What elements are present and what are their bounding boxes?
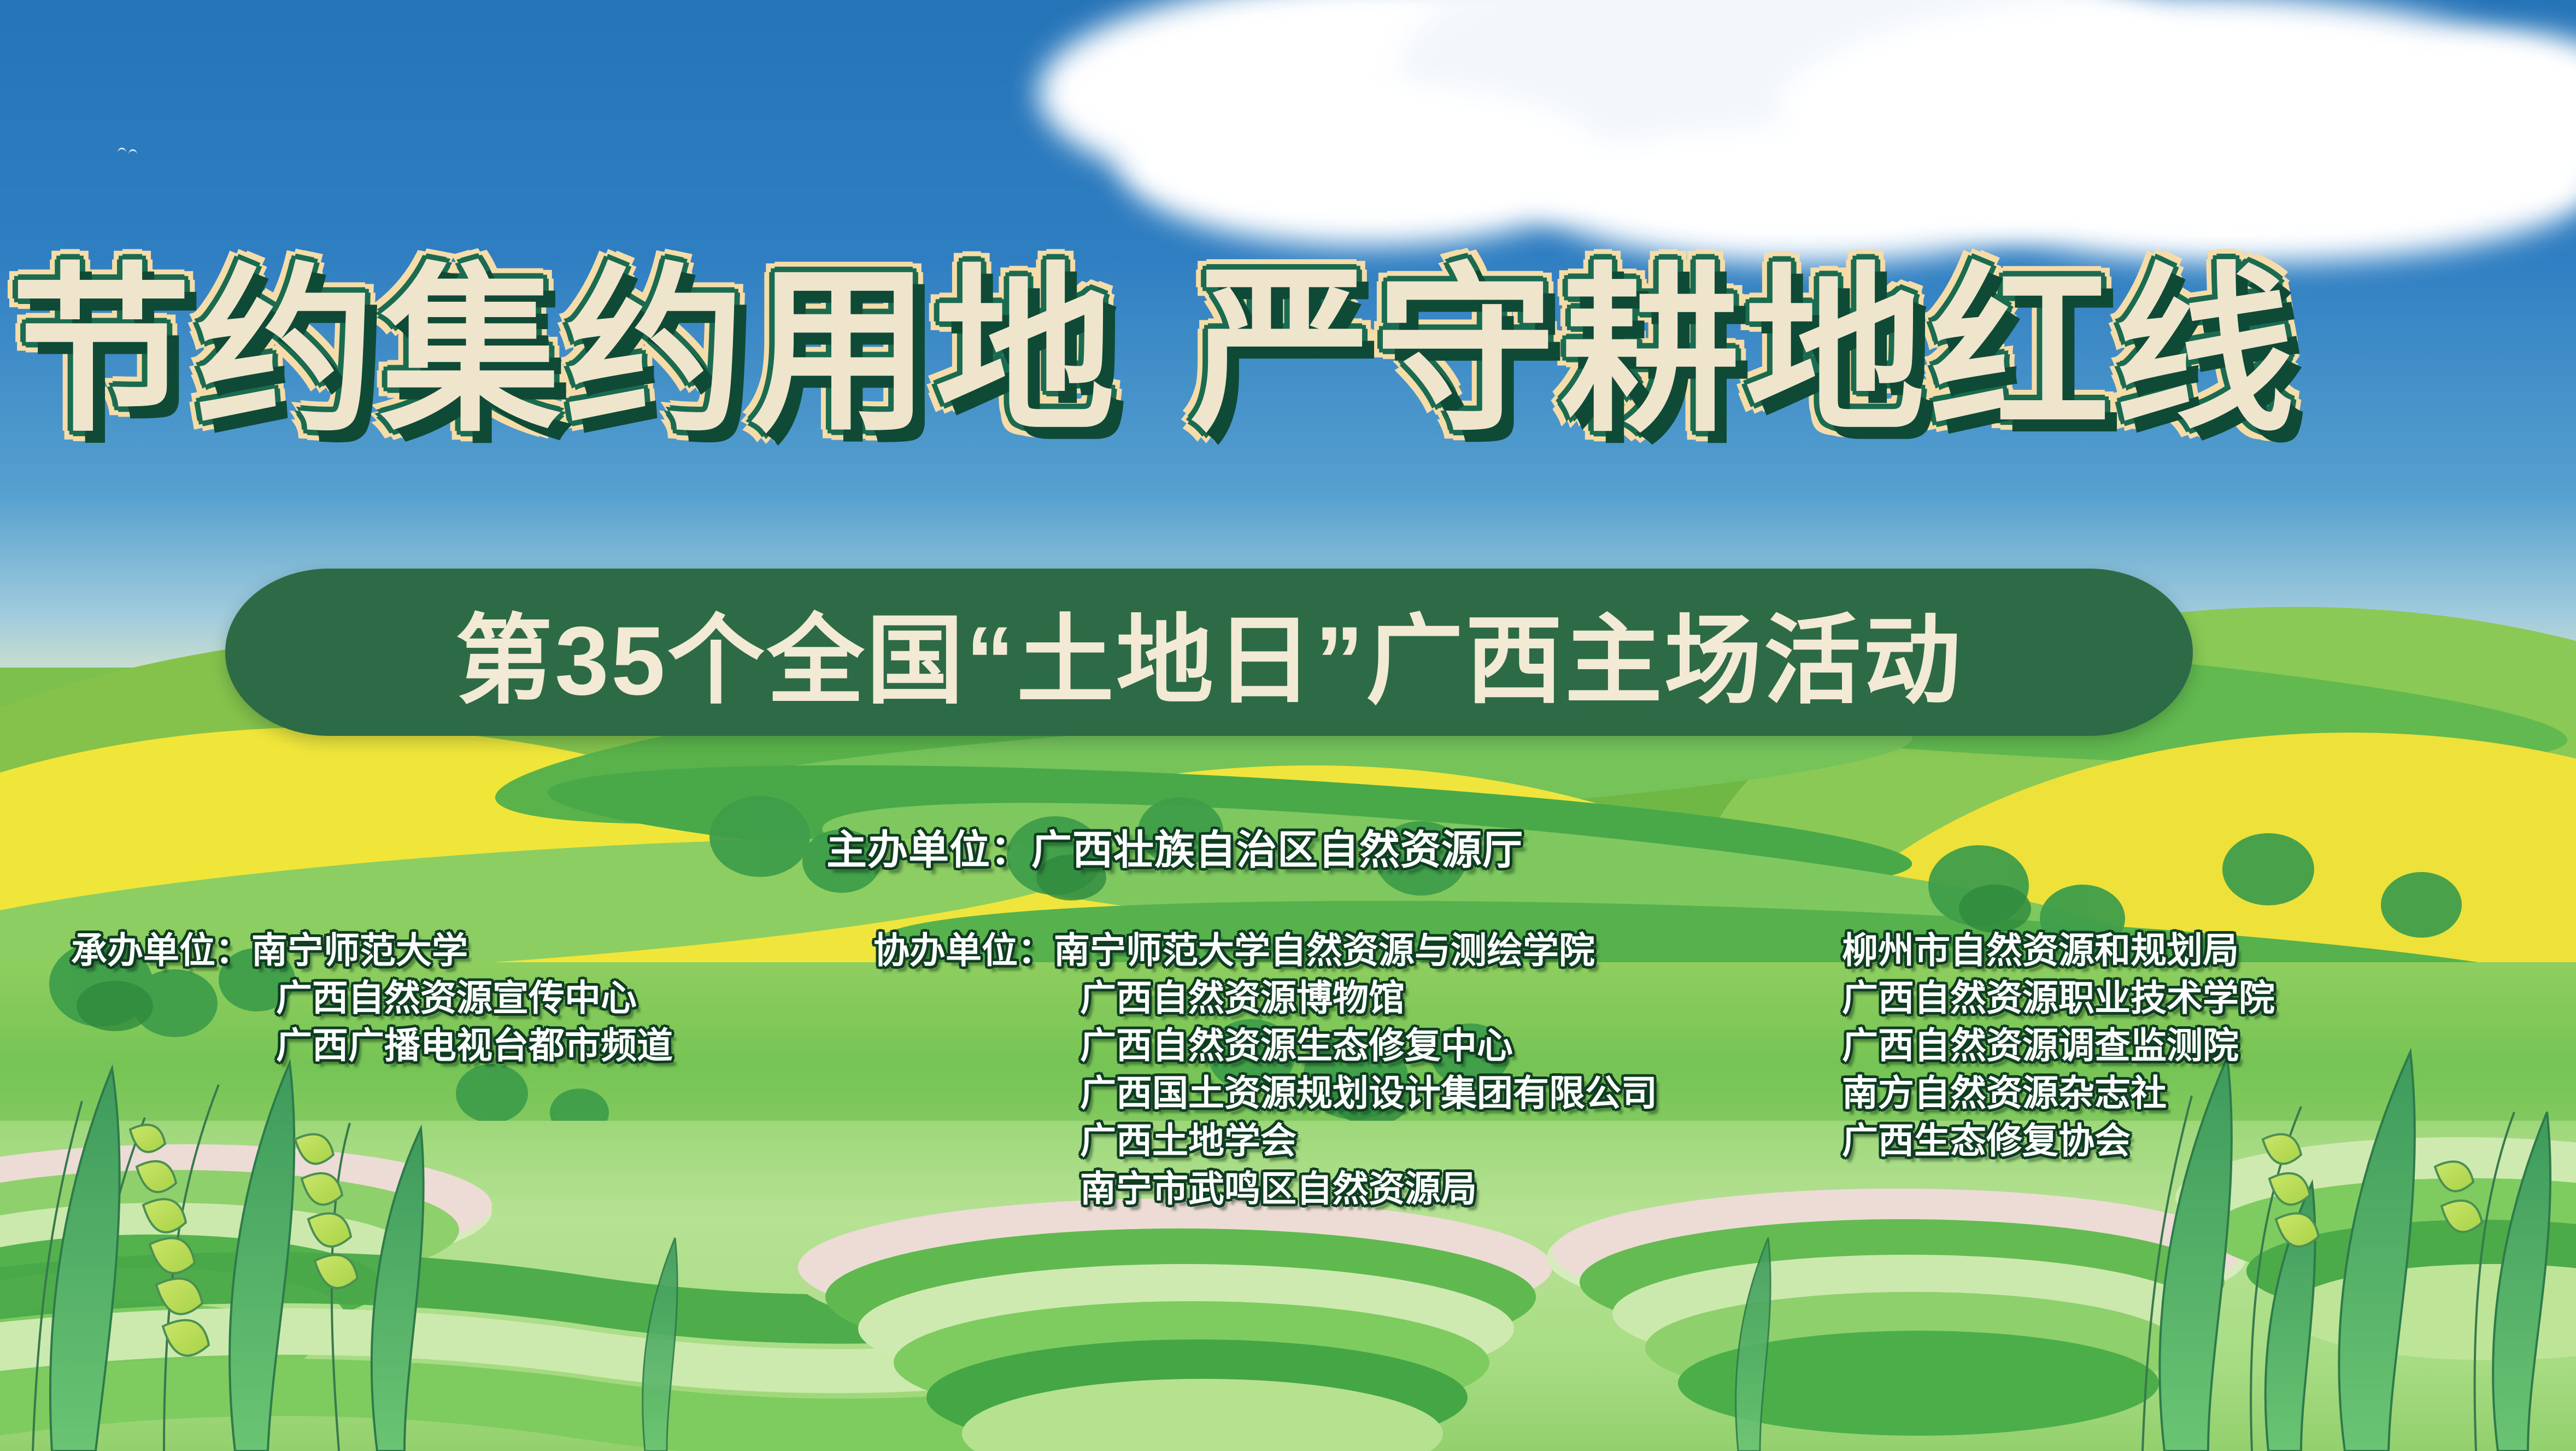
headline-part-1: 节约集约用地 <box>11 250 1119 452</box>
birds-icon <box>118 148 139 155</box>
organizer-line: 承办单位：南宁师范大学 <box>71 927 673 974</box>
headline-part-2: 严守耕地红线 <box>1190 250 2299 452</box>
poster-canvas: 节约集约用地严守耕地红线 第35个全国“土地日”广西主场活动 主办单位：广西壮族… <box>0 0 2576 1451</box>
cloud-shape <box>1530 126 2077 262</box>
co-organizer-line: 广西自然资源调查监测院 <box>1842 1022 2275 1069</box>
page-title: 节约集约用地严守耕地红线 <box>11 261 2569 442</box>
co-organizer-line: 南宁市武鸣区自然资源局 <box>873 1165 1657 1213</box>
co-organizer-line: 广西自然资源职业技术学院 <box>1842 974 2275 1022</box>
co-organizer-line: 广西土地学会 <box>873 1117 1657 1165</box>
co-organizers-right-column: 柳州市自然资源和规划局 广西自然资源职业技术学院 广西自然资源调查监测院 南方自… <box>1842 927 2275 1165</box>
rice-blade <box>50 1063 424 1451</box>
rice-blade <box>643 1238 1771 1451</box>
host-organization-line: 主办单位：广西壮族自治区自然资源厅 <box>826 817 1523 876</box>
organizer-line: 广西广播电视台都市频道 <box>71 1022 673 1069</box>
organizers-column: 承办单位：南宁师范大学 广西自然资源宣传中心 广西广播电视台都市频道 <box>71 927 673 1069</box>
organizer-line: 广西自然资源宣传中心 <box>71 974 673 1022</box>
co-organizer-line: 广西自然资源博物馆 <box>873 974 1657 1022</box>
subtitle-text: 第35个全国“土地日”广西主场活动 <box>225 569 2193 736</box>
co-organizer-line: 广西国土资源规划设计集团有限公司 <box>873 1069 1657 1117</box>
co-organizer-line: 南方自然资源杂志社 <box>1842 1069 2275 1117</box>
co-organizer-line: 广西自然资源生态修复中心 <box>873 1022 1657 1069</box>
subtitle-banner: 第35个全国“土地日”广西主场活动 <box>225 569 2193 736</box>
cloud-shape <box>1120 82 1612 246</box>
co-organizers-column: 协办单位：南宁师范大学自然资源与测绘学院 广西自然资源博物馆 广西自然资源生态修… <box>873 927 1657 1213</box>
co-organizer-line: 柳州市自然资源和规划局 <box>1842 927 2275 974</box>
co-organizer-line: 协办单位：南宁师范大学自然资源与测绘学院 <box>873 927 1657 974</box>
co-organizer-line: 广西生态修复协会 <box>1842 1117 2275 1165</box>
